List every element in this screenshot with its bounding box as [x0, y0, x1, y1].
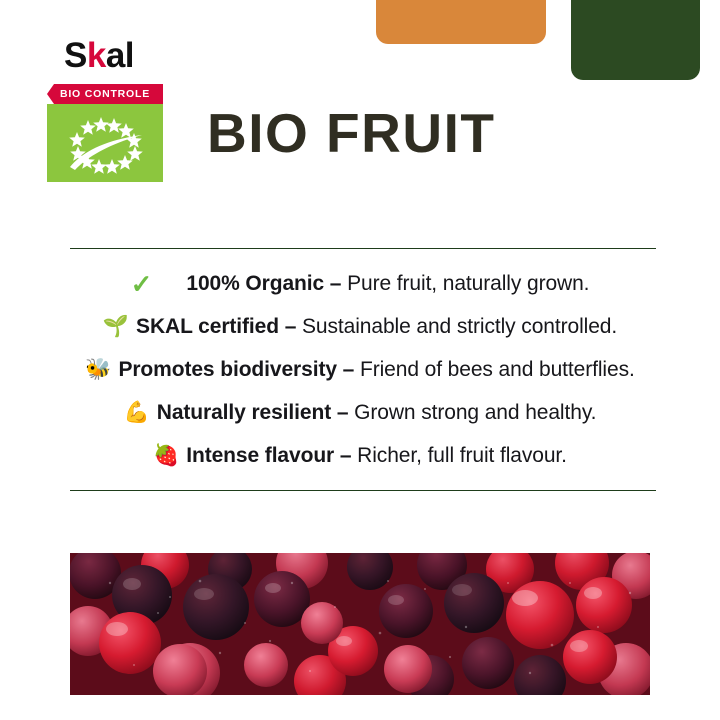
divider-top: [70, 248, 656, 249]
feature-text: Promotes biodiversity – Friend of bees a…: [118, 358, 634, 382]
feature-lead: Intense flavour –: [186, 444, 351, 467]
feature-rest: Friend of bees and butterflies.: [354, 358, 634, 381]
skal-wordmark-k: k: [87, 36, 106, 75]
berry-photo: [70, 553, 650, 695]
feature-text: Intense flavour – Richer, full fruit fla…: [186, 444, 567, 468]
skal-wordmark-s: S: [64, 36, 87, 75]
feature-lead: 100% Organic –: [186, 272, 341, 295]
bio-controle-banner: BIO CONTROLE: [47, 84, 163, 104]
feature-lead: SKAL certified –: [136, 315, 296, 338]
orange-accent-block: [376, 0, 546, 44]
feature-text: SKAL certified – Sustainable and strictl…: [136, 315, 617, 339]
list-item: ✓ 100% Organic – Pure fruit, naturally g…: [0, 262, 720, 305]
skal-wordmark: Skal: [47, 38, 175, 78]
feature-text: Naturally resilient – Grown strong and h…: [157, 401, 597, 425]
check-icon: ✓: [131, 271, 153, 297]
feature-rest: Sustainable and strictly controlled.: [296, 315, 617, 338]
feature-rest: Richer, full fruit flavour.: [351, 444, 566, 467]
list-item: 🌱 SKAL certified – Sustainable and stric…: [0, 305, 720, 348]
flexed-biceps-icon: 💪: [124, 402, 150, 423]
page-title: BIO FRUIT: [207, 106, 495, 161]
list-item: 💪 Naturally resilient – Grown strong and…: [0, 391, 720, 434]
feature-lead: Promotes biodiversity –: [118, 358, 354, 381]
feature-text: 100% Organic – Pure fruit, naturally gro…: [186, 272, 589, 296]
skal-bio-controle-logo: Skal BIO CONTROLE: [47, 38, 175, 182]
strawberry-icon: 🍓: [153, 445, 179, 466]
list-item: 🍓 Intense flavour – Richer, full fruit f…: [0, 434, 720, 477]
feature-lead: Naturally resilient –: [157, 401, 349, 424]
divider-bottom: [70, 490, 656, 491]
honeybee-icon: 🐝: [85, 359, 111, 380]
green-accent-block: [571, 0, 700, 80]
seedling-icon: 🌱: [103, 316, 129, 337]
feature-rest: Grown strong and healthy.: [348, 401, 596, 424]
list-item: 🐝 Promotes biodiversity – Friend of bees…: [0, 348, 720, 391]
feature-rest: Pure fruit, naturally grown.: [341, 272, 589, 295]
skal-wordmark-al: al: [106, 36, 134, 75]
eu-organic-leaf-icon: [47, 104, 163, 182]
feature-list: ✓ 100% Organic – Pure fruit, naturally g…: [0, 262, 720, 477]
